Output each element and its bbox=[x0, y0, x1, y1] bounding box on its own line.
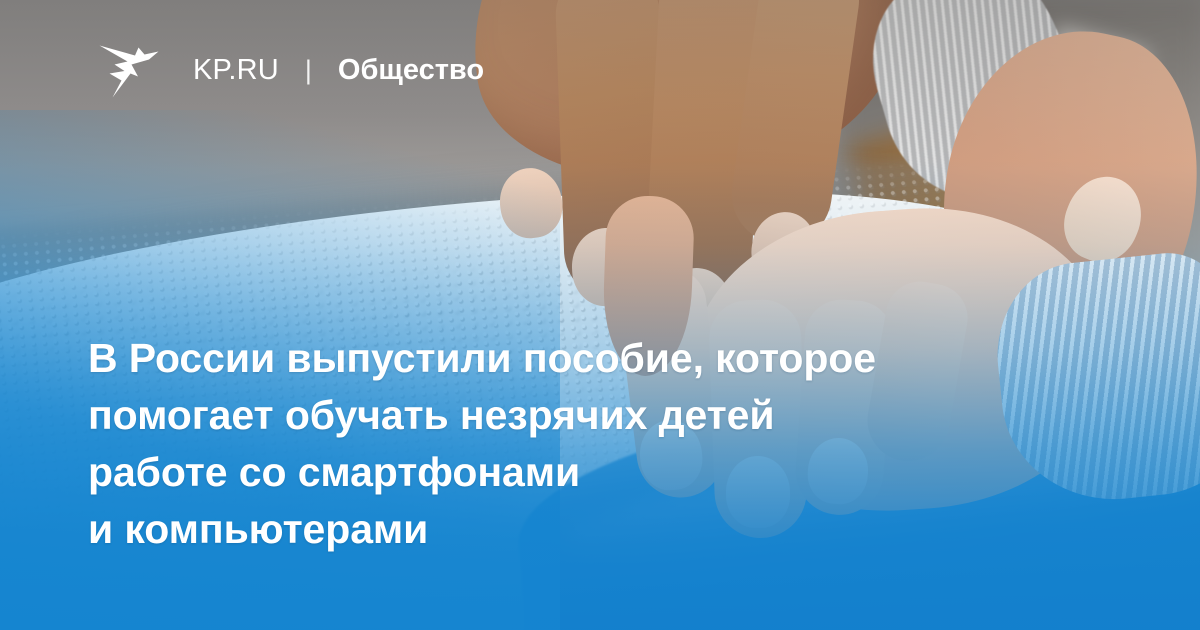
headline-line-4: и компьютерами bbox=[88, 501, 1098, 558]
share-card: KP.RU | Общество В России выпустили посо… bbox=[0, 0, 1200, 630]
card-header: KP.RU | Общество bbox=[97, 40, 484, 100]
headline-line-3: работе со смартфонами bbox=[88, 444, 1098, 501]
brand-name[interactable]: KP.RU bbox=[193, 56, 279, 85]
swallow-bird-logo-icon[interactable] bbox=[97, 40, 161, 100]
headline-line-1: В России выпустили пособие, которое bbox=[88, 330, 1098, 387]
header-divider: | bbox=[305, 57, 312, 84]
rubric-label[interactable]: Общество bbox=[338, 56, 484, 85]
headline: В России выпустили пособие, которое помо… bbox=[88, 330, 1098, 558]
headline-line-2: помогает обучать незрячих детей bbox=[88, 387, 1098, 444]
